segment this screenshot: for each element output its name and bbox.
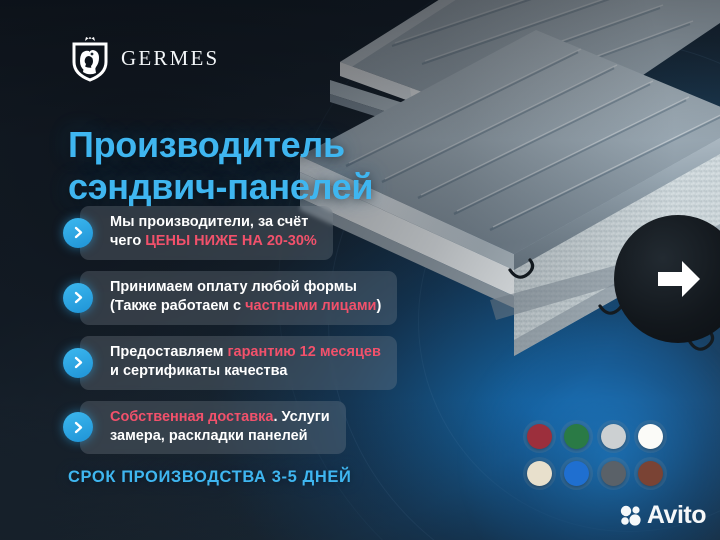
production-time-tagline: СРОК ПРОИЗВОДСТВА 3-5 ДНЕЙ	[68, 468, 352, 487]
benefit-line-1: Мы производители, за счёт	[110, 213, 317, 232]
color-swatch-brown	[638, 461, 663, 486]
color-swatch-blue	[564, 461, 589, 486]
benefit-text-highlight: гарантию 12 месяцев	[227, 344, 380, 360]
list-item: Собственная доставка. Услуги замера, рас…	[63, 401, 397, 455]
benefit-line-2: и сертификаты качества	[110, 362, 381, 381]
avito-watermark: Avito	[620, 501, 706, 530]
headline-line-1: Производитель	[68, 124, 345, 165]
benefit-text-highlight: ЦЕНЫ НИЖЕ НА 20-30%	[145, 233, 317, 249]
list-item: Мы производители, за счёт чего ЦЕНЫ НИЖЕ…	[63, 206, 397, 260]
swatch-cell	[595, 418, 632, 455]
swatch-cell	[521, 418, 558, 455]
benefit-text-prefix: чего	[110, 233, 145, 249]
benefit-line-2: чего ЦЕНЫ НИЖЕ НА 20-30%	[110, 232, 317, 251]
color-swatch-white	[638, 424, 663, 449]
page-title: Производитель сэндвич-панелей	[68, 124, 468, 208]
benefit-card: Собственная доставка. Услуги замера, рас…	[80, 401, 346, 455]
brand-logo: GERMES	[70, 34, 219, 82]
list-item: Предоставляем гарантию 12 месяцев и серт…	[63, 336, 397, 390]
brand-name: GERMES	[121, 46, 219, 71]
benefit-text-suffix: )	[376, 298, 381, 314]
chevron-right-icon	[63, 412, 93, 442]
benefits-list: Мы производители, за счёт чего ЦЕНЫ НИЖЕ…	[63, 206, 397, 454]
color-swatch-dark-gray	[601, 461, 626, 486]
swatch-cell	[558, 455, 595, 492]
chevron-right-icon	[63, 218, 93, 248]
benefit-card: Принимаем оплату любой формы (Также рабо…	[80, 271, 397, 325]
swatch-cell	[558, 418, 595, 455]
benefit-text-highlight: частными лицами	[245, 298, 376, 314]
benefit-card: Мы производители, за счёт чего ЦЕНЫ НИЖЕ…	[80, 206, 333, 260]
shield-lion-crown-icon	[70, 34, 110, 82]
benefit-text-highlight: Собственная доставка	[110, 409, 273, 425]
color-swatch-red	[527, 424, 552, 449]
swatch-cell	[632, 418, 669, 455]
color-swatch-green	[564, 424, 589, 449]
benefit-line-1: Предоставляем гарантию 12 месяцев	[110, 343, 381, 362]
avito-wordmark: Avito	[647, 501, 706, 530]
benefit-line-1: Принимаем оплату любой формы	[110, 278, 381, 297]
benefit-line-2: (Также работаем с частными лицами)	[110, 297, 381, 316]
benefit-card: Предоставляем гарантию 12 месяцев и серт…	[80, 336, 397, 390]
chevron-right-icon	[63, 348, 93, 378]
list-item: Принимаем оплату любой формы (Также рабо…	[63, 271, 397, 325]
benefit-text-prefix: (Также работаем с	[110, 298, 245, 314]
color-swatch-grid	[521, 418, 669, 492]
chevron-right-icon	[63, 283, 93, 313]
color-swatch-cream	[527, 461, 552, 486]
benefit-text-suffix: . Услуги	[273, 409, 329, 425]
headline-line-2: сэндвич-панелей	[68, 166, 468, 208]
avito-dots-icon	[620, 505, 642, 527]
benefit-line-2: замера, раскладки панелей	[110, 427, 330, 446]
benefit-text-prefix: Предоставляем	[110, 344, 227, 360]
swatch-cell	[521, 455, 558, 492]
swatch-cell	[632, 455, 669, 492]
swatch-cell	[595, 455, 632, 492]
color-swatch-light-gray	[601, 424, 626, 449]
advertisement-banner: GERMES Производитель сэндвич-панелей Мы …	[0, 0, 720, 540]
benefit-line-1: Собственная доставка. Услуги	[110, 408, 330, 427]
